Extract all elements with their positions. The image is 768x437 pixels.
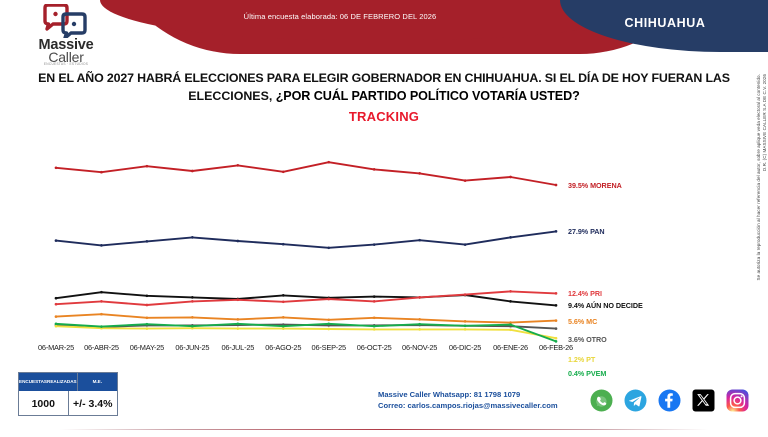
x-axis-tick-5: 06-AGO-25: [265, 343, 301, 352]
x-axis-tick-4: 06-JUL-25: [221, 343, 254, 352]
data-point: [191, 300, 194, 303]
data-point: [327, 161, 330, 164]
data-point: [327, 246, 330, 249]
data-point: [373, 316, 376, 319]
data-point: [282, 325, 285, 328]
data-point: [282, 294, 285, 297]
data-point: [55, 166, 58, 169]
data-point: [509, 290, 512, 293]
stats-header-encuestas: ENCUESTAS REALIZADAS: [19, 373, 78, 391]
x-axis-tick-9: 06-DIC-25: [449, 343, 481, 352]
survey-date-label: Última encuesta elaborada: 06 DE FEBRERO…: [160, 12, 520, 21]
data-point: [373, 325, 376, 328]
data-point: [236, 327, 239, 330]
data-point: [191, 170, 194, 173]
x-axis-tick-3: 06-JUN-25: [175, 343, 209, 352]
data-point: [418, 328, 421, 331]
data-point: [464, 293, 467, 296]
tracking-line-chart: [30, 135, 570, 350]
data-point: [236, 164, 239, 167]
data-point: [100, 325, 103, 328]
data-point: [509, 323, 512, 326]
legend-item-pvem: 0.4% PVEM: [568, 369, 606, 378]
x-icon[interactable]: [692, 389, 715, 412]
series-line-pt: [56, 326, 556, 338]
data-point: [464, 243, 467, 246]
stats-value-margin-error: +/- 3.4%: [69, 391, 118, 416]
stats-value-sample-size: 1000: [19, 391, 69, 416]
copyright-line-1: D.R. (C) MASSIVE CALLER S.A DE C.V. 2026: [762, 74, 767, 171]
contact-block: Massive Caller Whatsapp: 81 1798 1079 Co…: [378, 390, 608, 411]
legend-item-pan: 27.9% PAN: [568, 227, 605, 236]
data-point: [236, 322, 239, 325]
data-point: [191, 236, 194, 239]
data-point: [327, 318, 330, 321]
data-point: [509, 176, 512, 179]
data-point: [418, 296, 421, 299]
data-point: [191, 325, 194, 328]
data-point: [373, 328, 376, 331]
data-point: [327, 328, 330, 331]
question-highlight: ¿POR CUÁL PARTIDO POLÍTICO VOTARÍA USTED…: [276, 89, 580, 103]
data-point: [146, 316, 149, 319]
copyright-line-2: Se autoriza la reproducción al hacer ref…: [756, 74, 761, 281]
chart-legend: 39.5% MORENA27.9% PAN12.4% PRI9.4% AÚN N…: [568, 0, 718, 360]
data-point: [236, 240, 239, 243]
data-point: [555, 327, 558, 330]
legend-item-otro: 3.6% OTRO: [568, 335, 607, 344]
x-axis-tick-1: 06-ABR-25: [84, 343, 119, 352]
data-point: [282, 300, 285, 303]
stats-header-row: ENCUESTAS REALIZADAS M.E.: [19, 373, 117, 391]
legend-item-aún-no-decide: 9.4% AÚN NO DECIDE: [568, 301, 643, 310]
data-point: [373, 168, 376, 171]
logo-tagline: ENCUESTAS · ESTUDIOS: [12, 62, 120, 66]
stats-header-encuestas-l1: ENCUESTAS: [19, 379, 47, 385]
stats-value-row: 1000 +/- 3.4%: [19, 391, 117, 416]
data-point: [282, 243, 285, 246]
x-axis-tick-0: 06-MAR-25: [38, 343, 74, 352]
legend-item-pri: 12.4% PRI: [568, 289, 602, 298]
data-point: [236, 318, 239, 321]
data-point: [327, 298, 330, 301]
series-line-morena: [56, 162, 556, 185]
data-point: [464, 179, 467, 182]
data-point: [282, 316, 285, 319]
data-point: [555, 304, 558, 307]
state-name-label: CHIHUAHUA: [600, 16, 730, 30]
data-point: [191, 296, 194, 299]
data-point: [327, 322, 330, 325]
legend-item-morena: 39.5% MORENA: [568, 181, 622, 190]
whatsapp-icon[interactable]: [590, 389, 613, 412]
data-point: [55, 297, 58, 300]
data-point: [146, 165, 149, 168]
data-point: [418, 172, 421, 175]
data-point: [100, 313, 103, 316]
x-axis-tick-7: 06-OCT-25: [357, 343, 392, 352]
x-axis-tick-8: 06-NOV-25: [402, 343, 437, 352]
data-point: [146, 327, 149, 330]
data-point: [464, 328, 467, 331]
data-point: [464, 324, 467, 327]
data-point: [282, 170, 285, 173]
data-point: [146, 240, 149, 243]
data-point: [555, 319, 558, 322]
data-point: [55, 239, 58, 242]
question-line-2-prefix: ELECCIONES,: [188, 89, 275, 103]
data-point: [146, 304, 149, 307]
data-point: [100, 291, 103, 294]
contact-email: Correo: carlos.campos.riojas@massivecall…: [378, 401, 608, 412]
data-point: [100, 300, 103, 303]
data-point: [418, 239, 421, 242]
data-point: [236, 298, 239, 301]
data-point: [555, 292, 558, 295]
legend-item-mc: 5.6% MC: [568, 317, 597, 326]
data-point: [55, 322, 58, 325]
data-point: [100, 171, 103, 174]
data-point: [55, 315, 58, 318]
series-line-pri: [56, 291, 556, 305]
speech-bubbles-logo-icon: [42, 4, 88, 38]
data-point: [464, 320, 467, 323]
data-point: [418, 323, 421, 326]
footer-divider: [60, 429, 708, 430]
series-line-pan: [56, 231, 556, 247]
data-point: [100, 244, 103, 247]
telegram-icon[interactable]: [624, 389, 647, 412]
chart-canvas: [30, 135, 570, 350]
social-links[interactable]: [590, 389, 760, 415]
data-point: [418, 318, 421, 321]
data-point: [55, 325, 58, 328]
stats-header-me: M.E.: [78, 373, 117, 391]
legend-item-pt: 1.2% PT: [568, 355, 595, 364]
data-point: [282, 327, 285, 330]
x-axis-tick-2: 06-MAY-25: [130, 343, 164, 352]
data-point: [555, 230, 558, 233]
data-point: [555, 337, 558, 340]
data-point: [146, 323, 149, 326]
stats-header-encuestas-l2: REALIZADAS: [47, 379, 77, 385]
data-point: [373, 243, 376, 246]
data-point: [55, 303, 58, 306]
instagram-icon[interactable]: [726, 389, 749, 412]
contact-whatsapp: Massive Caller Whatsapp: 81 1798 1079: [378, 390, 608, 401]
side-copyright: D.R. (C) MASSIVE CALLER S.A DE C.V. 2026…: [751, 74, 767, 364]
chart-series-group: [55, 161, 558, 343]
data-point: [509, 236, 512, 239]
data-point: [373, 295, 376, 298]
data-point: [509, 300, 512, 303]
data-point: [555, 184, 558, 187]
brand-logo: Massive Caller ENCUESTAS · ESTUDIOS: [12, 4, 120, 62]
series-line-mc: [56, 314, 556, 322]
data-point: [509, 328, 512, 331]
data-point: [191, 316, 194, 319]
data-point: [146, 294, 149, 297]
facebook-icon[interactable]: [658, 389, 681, 412]
sample-stats-table: ENCUESTAS REALIZADAS M.E. 1000 +/- 3.4%: [18, 372, 118, 416]
x-axis-tick-6: 06-SEP-25: [312, 343, 346, 352]
data-point: [373, 300, 376, 303]
x-axis-tick-10: 06-ENE-26: [493, 343, 528, 352]
x-axis-tick-labels: 06-MAR-2506-ABR-2506-MAY-2506-JUN-2506-J…: [30, 343, 590, 357]
